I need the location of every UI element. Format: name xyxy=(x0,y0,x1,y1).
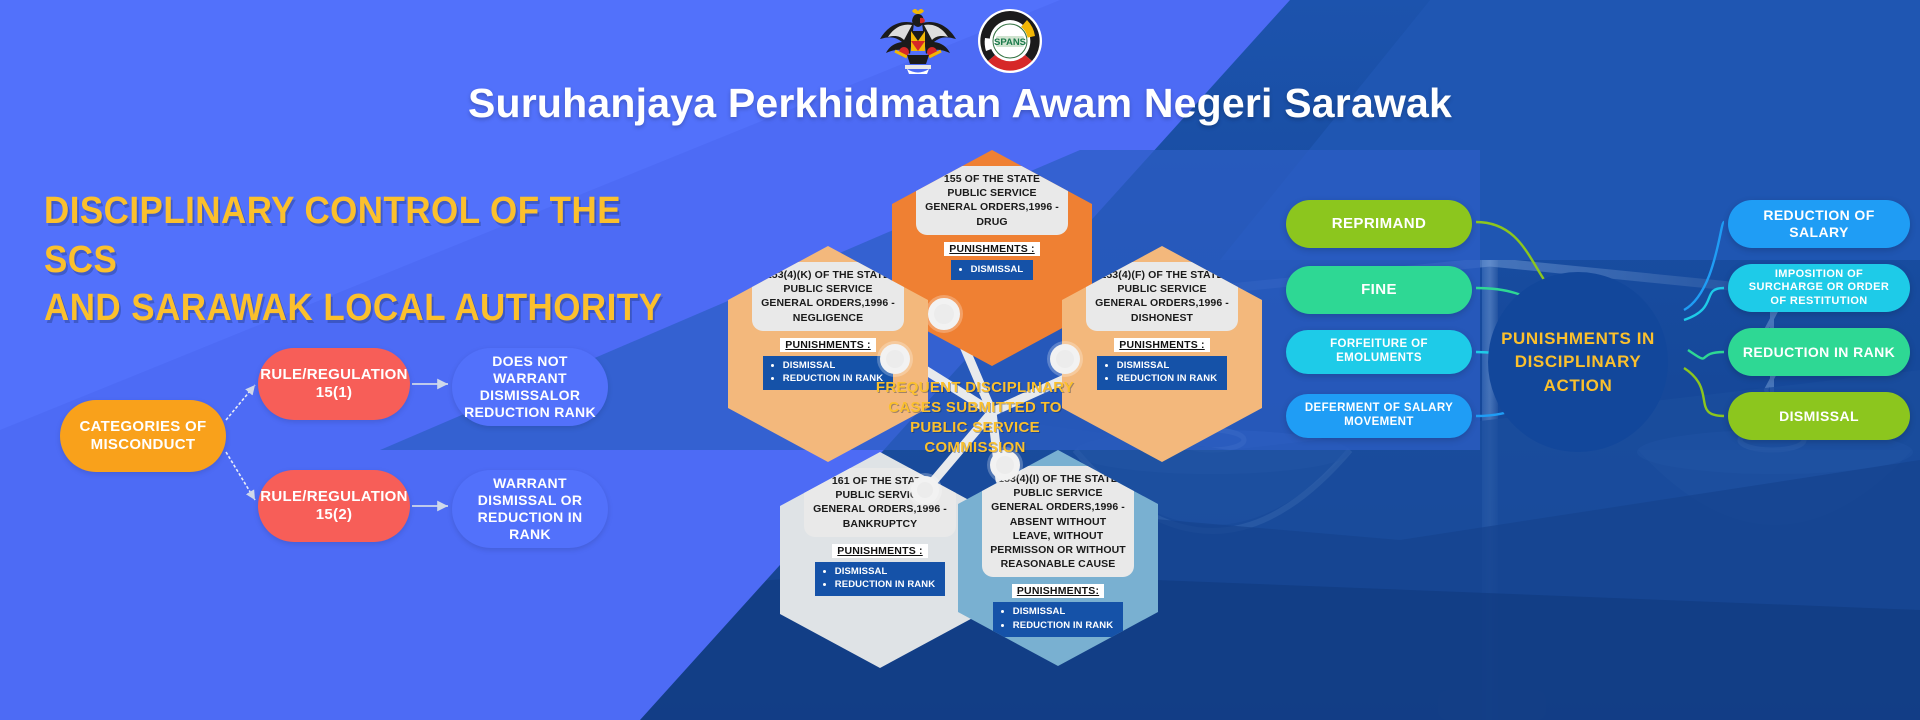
hex-connector-dot-negligence xyxy=(880,344,910,374)
spans-logo-icon: SPANS xyxy=(977,8,1043,74)
mindmap-item-reprimand[interactable]: REPRIMAND xyxy=(1286,200,1472,248)
punishments-mindmap: PUNISHMENTS IN DISCIPLINARY ACTION REPRI… xyxy=(1280,200,1920,520)
punishment-item: DISMISSAL xyxy=(835,565,935,579)
hex-connector-dot-drug xyxy=(928,298,960,330)
hex-node-absent-punishments: DISMISSAL REDUCTION IN RANK xyxy=(993,602,1123,637)
infographic-canvas: SPANS Suruhanjaya Perkhidmatan Awam Nege… xyxy=(0,0,1920,720)
hex-node-dishonest-punishments-heading: PUNISHMENTS : xyxy=(1114,338,1209,352)
hex-node-absent-punishments-heading: PUNISHMENTS: xyxy=(1012,584,1104,598)
mindmap-item-deferment-of-salary-movement[interactable]: DEFERMENT OF SALARY MOVEMENT xyxy=(1286,394,1472,438)
flow-node-rule-15-1[interactable]: RULE/REGULATION 15(1) xyxy=(258,348,410,420)
hex-node-dishonest-punishments: DISMISSAL REDUCTION IN RANK xyxy=(1097,356,1227,391)
hex-node-bankruptcy-punishments: DISMISSAL REDUCTION IN RANK xyxy=(815,562,945,597)
punishment-item: DISMISSAL xyxy=(971,263,1024,277)
hex-node-drug-punishments-heading: PUNISHMENTS : xyxy=(944,242,1039,256)
hex-node-negligence-punishments-heading: PUNISHMENTS : xyxy=(780,338,875,352)
svg-text:SPANS: SPANS xyxy=(994,37,1026,48)
hex-node-drug-punishments: DISMISSAL xyxy=(951,260,1034,281)
flow-node-outcome-no-dismissal[interactable]: DOES NOT WARRANT DISMISSALOR REDUCTION R… xyxy=(452,348,608,426)
hex-cluster-centre-label: FREQUENT DISCIPLINARY CASES SUBMITTED TO… xyxy=(860,378,1090,458)
mindmap-item-reduction-in-rank[interactable]: REDUCTION IN RANK xyxy=(1728,328,1910,376)
frequent-cases-hex-cluster: 155 OF THE STATE PUBLIC SERVICE GENERAL … xyxy=(700,150,1260,710)
flow-node-rule-15-2[interactable]: RULE/REGULATION 15(2) xyxy=(258,470,410,542)
mindmap-item-reduction-of-salary[interactable]: REDUCTION OF SALARY xyxy=(1728,200,1910,248)
sarawak-coat-of-arms-icon xyxy=(877,5,959,77)
flow-node-categories-of-misconduct[interactable]: CATEGORIES OF MISCONDUCT xyxy=(60,400,226,472)
punishment-item: REDUCTION IN RANK xyxy=(1117,372,1217,386)
punishment-item: REDUCTION IN RANK xyxy=(1013,619,1113,633)
hex-node-absent-label: 153(4)(I) OF THE STATE PUBLIC SERVICE GE… xyxy=(982,466,1134,577)
mindmap-item-dismissal[interactable]: DISMISSAL xyxy=(1728,392,1910,440)
punishment-item: DISMISSAL xyxy=(783,359,883,373)
mindmap-hub[interactable]: PUNISHMENTS IN DISCIPLINARY ACTION xyxy=(1488,272,1668,452)
mindmap-item-forfeiture-of-emoluments[interactable]: FORFEITURE OF EMOLUMENTS xyxy=(1286,330,1472,374)
hex-connector-dot-bankruptcy xyxy=(911,476,939,504)
misconduct-flowchart: CATEGORIES OF MISCONDUCT RULE/REGULATION… xyxy=(0,0,700,720)
mindmap-item-fine[interactable]: FINE xyxy=(1286,266,1472,314)
hex-node-bankruptcy-punishments-heading: PUNISHMENTS : xyxy=(832,544,927,558)
mindmap-item-imposition-of-surcharge[interactable]: IMPOSITION OF SURCHARGE OR ORDER OF REST… xyxy=(1728,264,1910,312)
punishment-item: REDUCTION IN RANK xyxy=(835,578,935,592)
punishment-item: DISMISSAL xyxy=(1117,359,1217,373)
flow-node-outcome-warrant-dismissal[interactable]: WARRANT DISMISSAL OR REDUCTION IN RANK xyxy=(452,470,608,548)
hex-connector-dot-dishonest xyxy=(1050,344,1080,374)
punishment-item: DISMISSAL xyxy=(1013,605,1113,619)
